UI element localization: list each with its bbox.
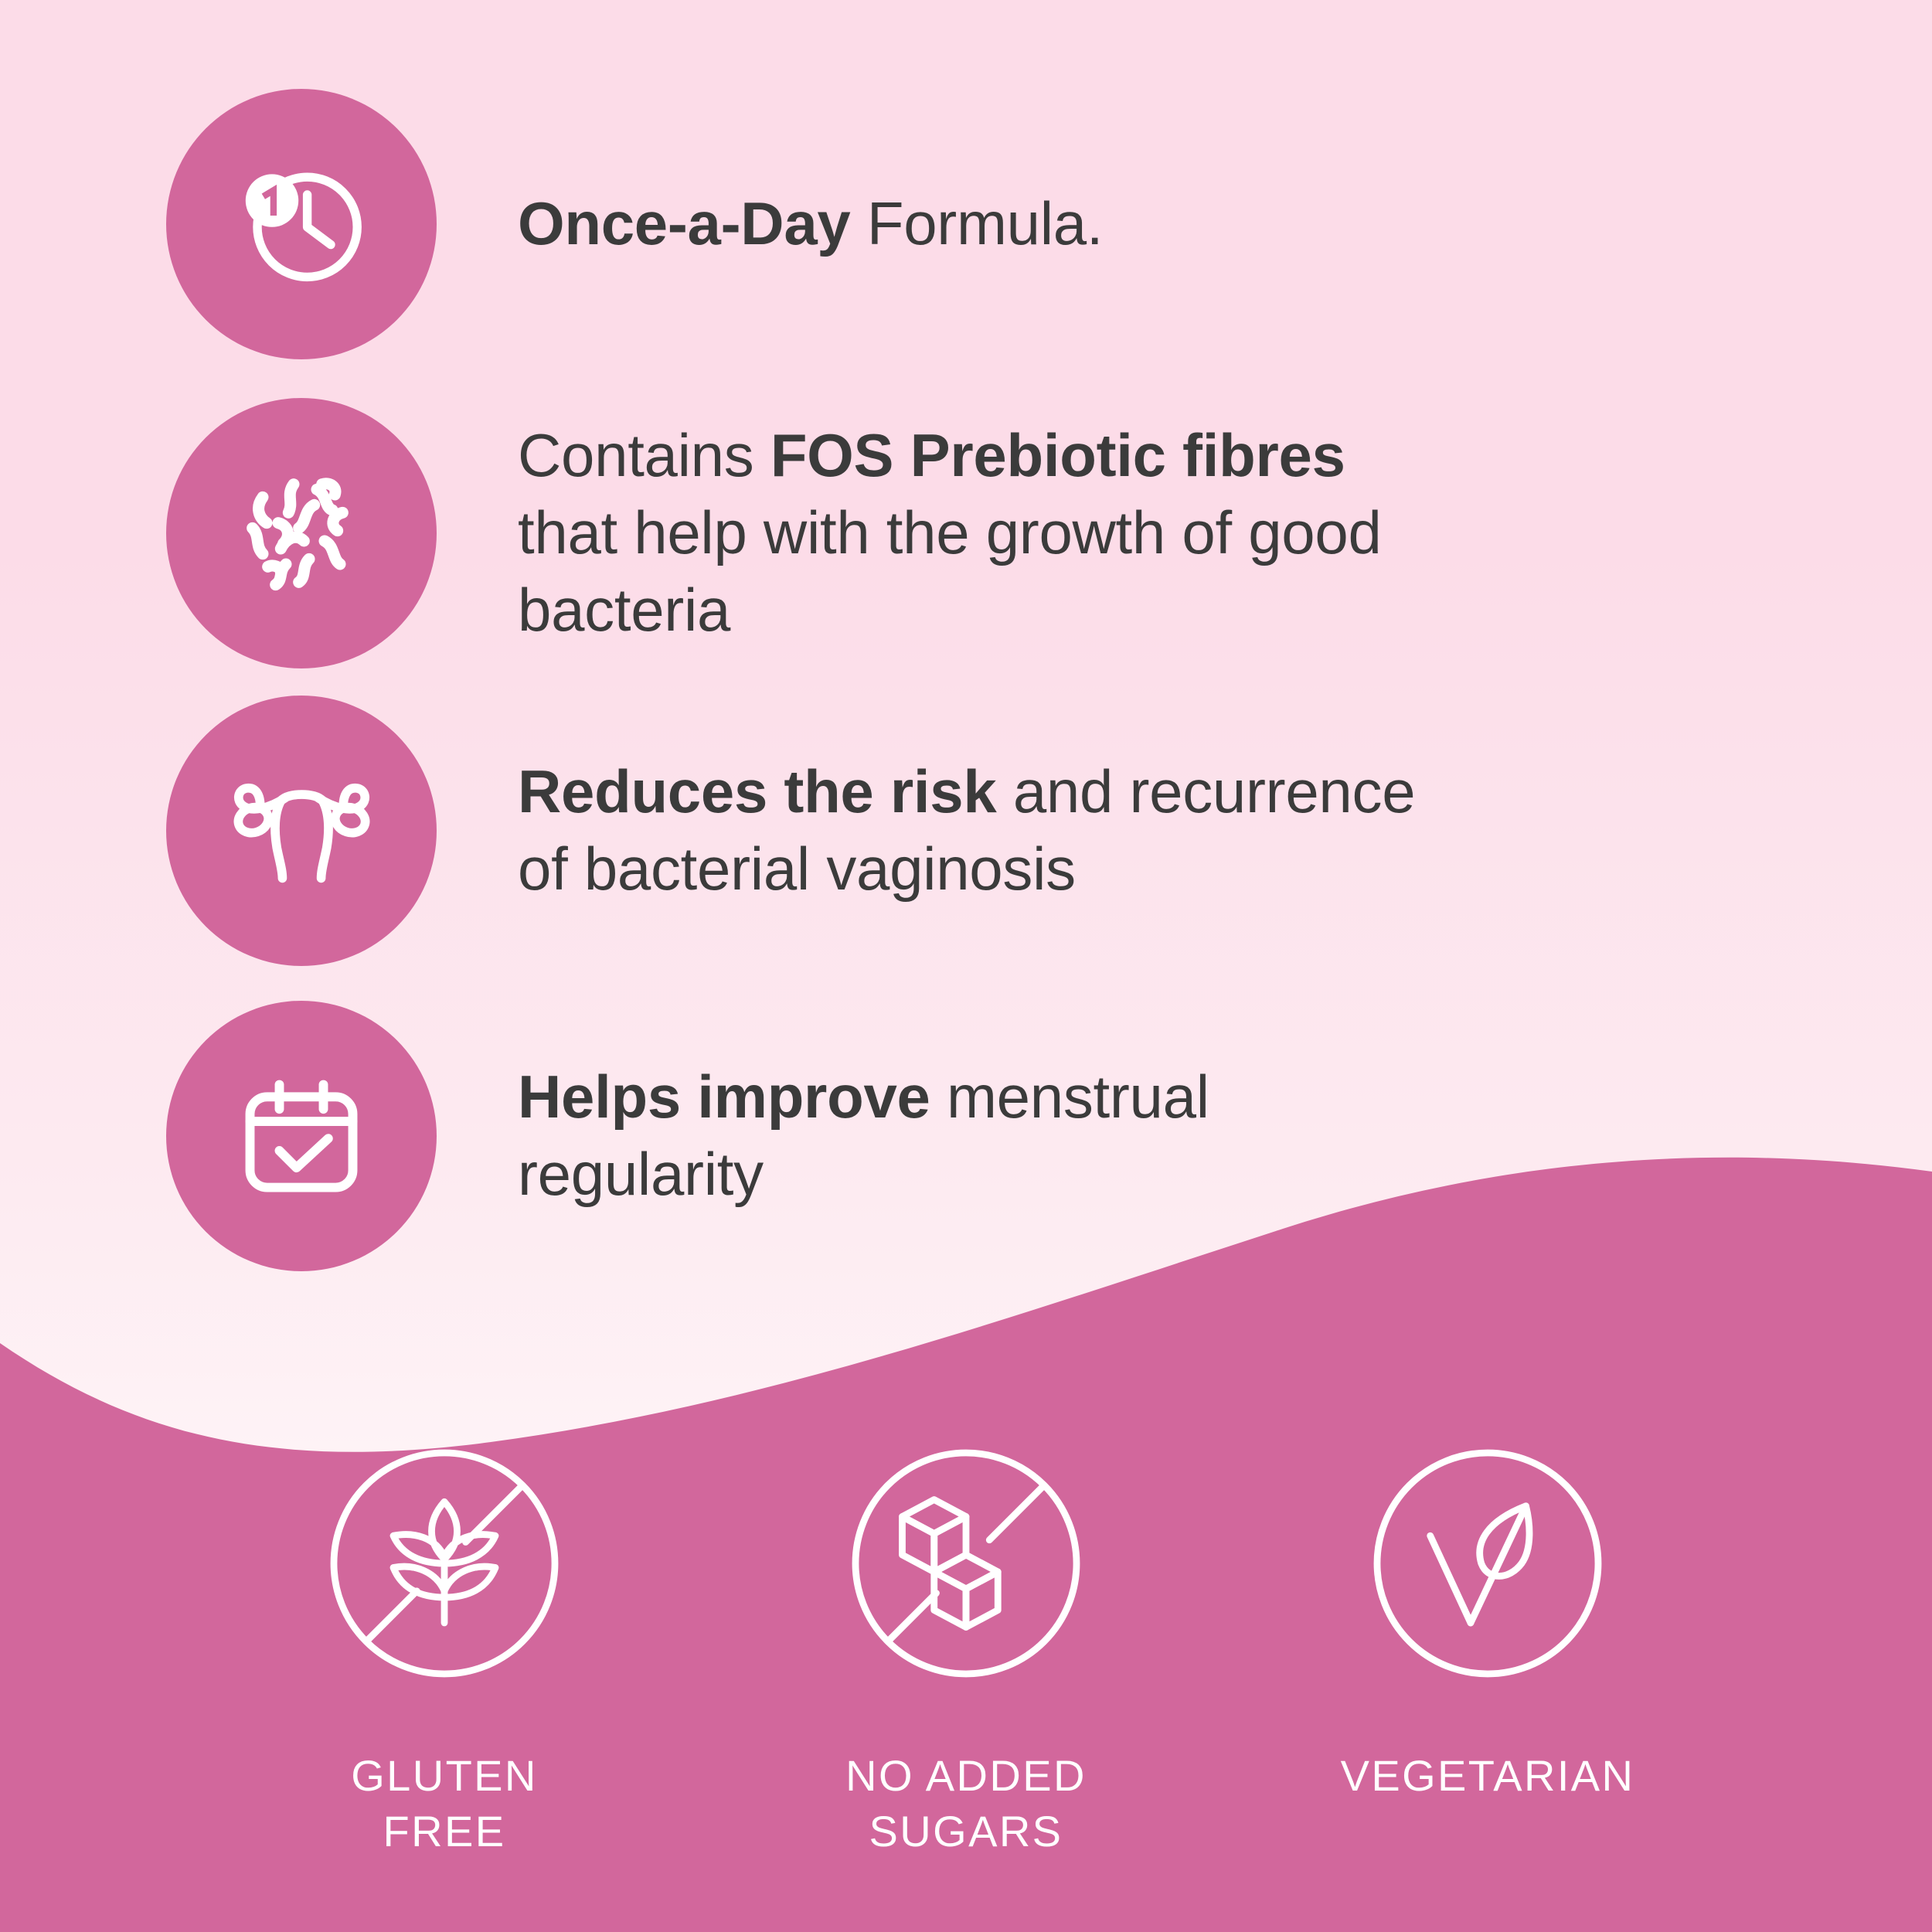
benefit-prefix: Contains — [518, 421, 770, 489]
benefit-rest: Formula. — [851, 189, 1104, 257]
badge-ring — [1360, 1437, 1615, 1692]
clock-one-icon — [228, 151, 375, 298]
badge-vegetarian: VEGETARIAN — [1360, 1437, 1615, 1859]
benefit-text: Once-a-Day Formula. — [518, 185, 1103, 263]
benefit-bold-lead: Helps improve — [518, 1063, 930, 1131]
benefit-bold-lead: Once-a-Day — [518, 189, 851, 257]
certification-badges: GLUTEN FREE — [0, 1437, 1932, 1859]
calendar-check-icon — [228, 1063, 375, 1209]
benefit-row: Reduces the risk and recurrence of bacte… — [166, 696, 1712, 966]
benefit-row: Contains FOS Prebiotic fibres that help … — [166, 398, 1712, 668]
infographic-canvas: Once-a-Day Formula. — [0, 0, 1932, 1932]
vegetarian-leaf-v-icon — [1360, 1436, 1615, 1695]
badge-ring — [838, 1437, 1094, 1692]
benefit-icon-badge — [166, 1001, 437, 1271]
benefit-text: Helps improve menstrual regularity — [518, 1059, 1430, 1213]
benefit-icon-badge — [166, 398, 437, 668]
no-gluten-wheat-icon — [317, 1436, 572, 1695]
benefit-icon-badge — [166, 696, 437, 966]
no-sugar-cubes-icon — [838, 1436, 1094, 1695]
benefit-bold-lead: Reduces the risk — [518, 757, 996, 825]
badge-ring — [317, 1437, 572, 1692]
benefit-row: Once-a-Day Formula. — [166, 89, 1712, 359]
benefit-rest: that help with the growth of good bacter… — [518, 498, 1382, 644]
badge-label: VEGETARIAN — [1341, 1748, 1635, 1804]
badge-no-added-sugars: NO ADDED SUGARS — [838, 1437, 1094, 1859]
bacteria-icon — [224, 456, 379, 611]
benefit-text: Reduces the risk and recurrence of bacte… — [518, 753, 1430, 908]
benefit-bold-mid: FOS Prebiotic fibres — [770, 421, 1345, 489]
badge-label: NO ADDED SUGARS — [845, 1748, 1087, 1859]
uterus-icon — [219, 748, 385, 914]
benefit-text: Contains FOS Prebiotic fibres that help … — [518, 417, 1430, 648]
benefit-icon-badge — [166, 89, 437, 359]
badge-gluten-free: GLUTEN FREE — [317, 1437, 572, 1859]
benefit-row: Helps improve menstrual regularity — [166, 1001, 1712, 1271]
badge-label: GLUTEN FREE — [351, 1748, 538, 1859]
